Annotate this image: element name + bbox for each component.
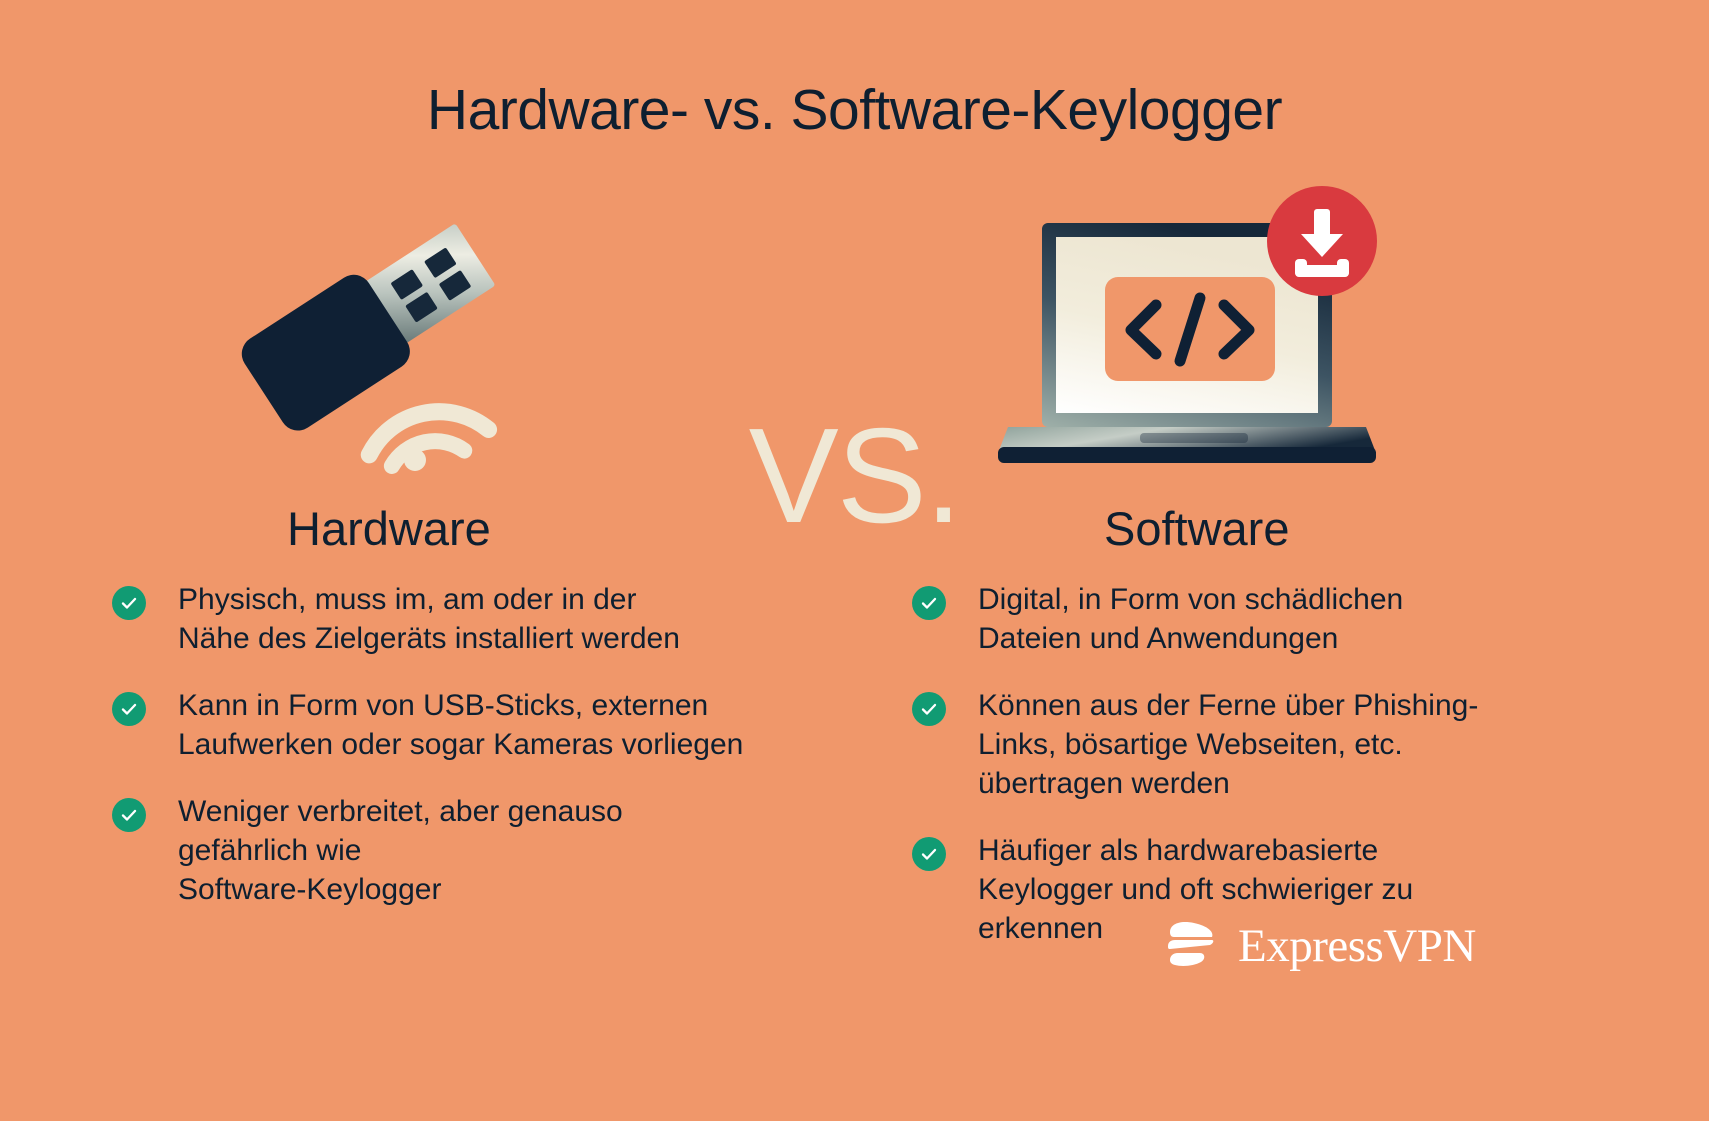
check-icon <box>912 692 946 726</box>
list-item: Können aus der Ferne über Phishing- Link… <box>912 686 1492 803</box>
list-item: Weniger verbreitet, aber genauso gefährl… <box>112 792 812 909</box>
versus-label: VS. <box>749 408 961 543</box>
list-item-text: Weniger verbreitet, aber genauso gefährl… <box>178 792 623 909</box>
column-heading-software: Software <box>1104 505 1289 552</box>
column-heading-hardware: Hardware <box>287 505 491 552</box>
check-icon <box>912 586 946 620</box>
hardware-bullet-list: Physisch, muss im, am oder in der Nähe d… <box>112 580 812 937</box>
expressvpn-e-logo-icon <box>1160 915 1222 977</box>
page-title: Hardware- vs. Software-Keylogger <box>0 78 1709 144</box>
expressvpn-wordmark: ExpressVPN <box>1238 923 1476 970</box>
infographic-canvas: Hardware- vs. Software-Keylogger <box>0 0 1709 1121</box>
list-item: Kann in Form von USB-Sticks, externen La… <box>112 686 812 764</box>
list-item-text: Kann in Form von USB-Sticks, externen La… <box>178 686 743 764</box>
list-item-text: Digital, in Form von schädlichen Dateien… <box>978 580 1403 658</box>
check-icon <box>112 692 146 726</box>
check-icon <box>112 586 146 620</box>
list-item: Digital, in Form von schädlichen Dateien… <box>912 580 1492 658</box>
expressvpn-logo: ExpressVPN <box>1160 915 1476 977</box>
list-item-text: Können aus der Ferne über Phishing- Link… <box>978 686 1478 803</box>
usb-stick-illustration <box>232 205 532 475</box>
list-item-text: Physisch, muss im, am oder in der Nähe d… <box>178 580 680 658</box>
list-item: Physisch, muss im, am oder in der Nähe d… <box>112 580 812 658</box>
check-icon <box>912 837 946 871</box>
check-icon <box>112 798 146 832</box>
laptop-code-illustration <box>990 185 1390 475</box>
